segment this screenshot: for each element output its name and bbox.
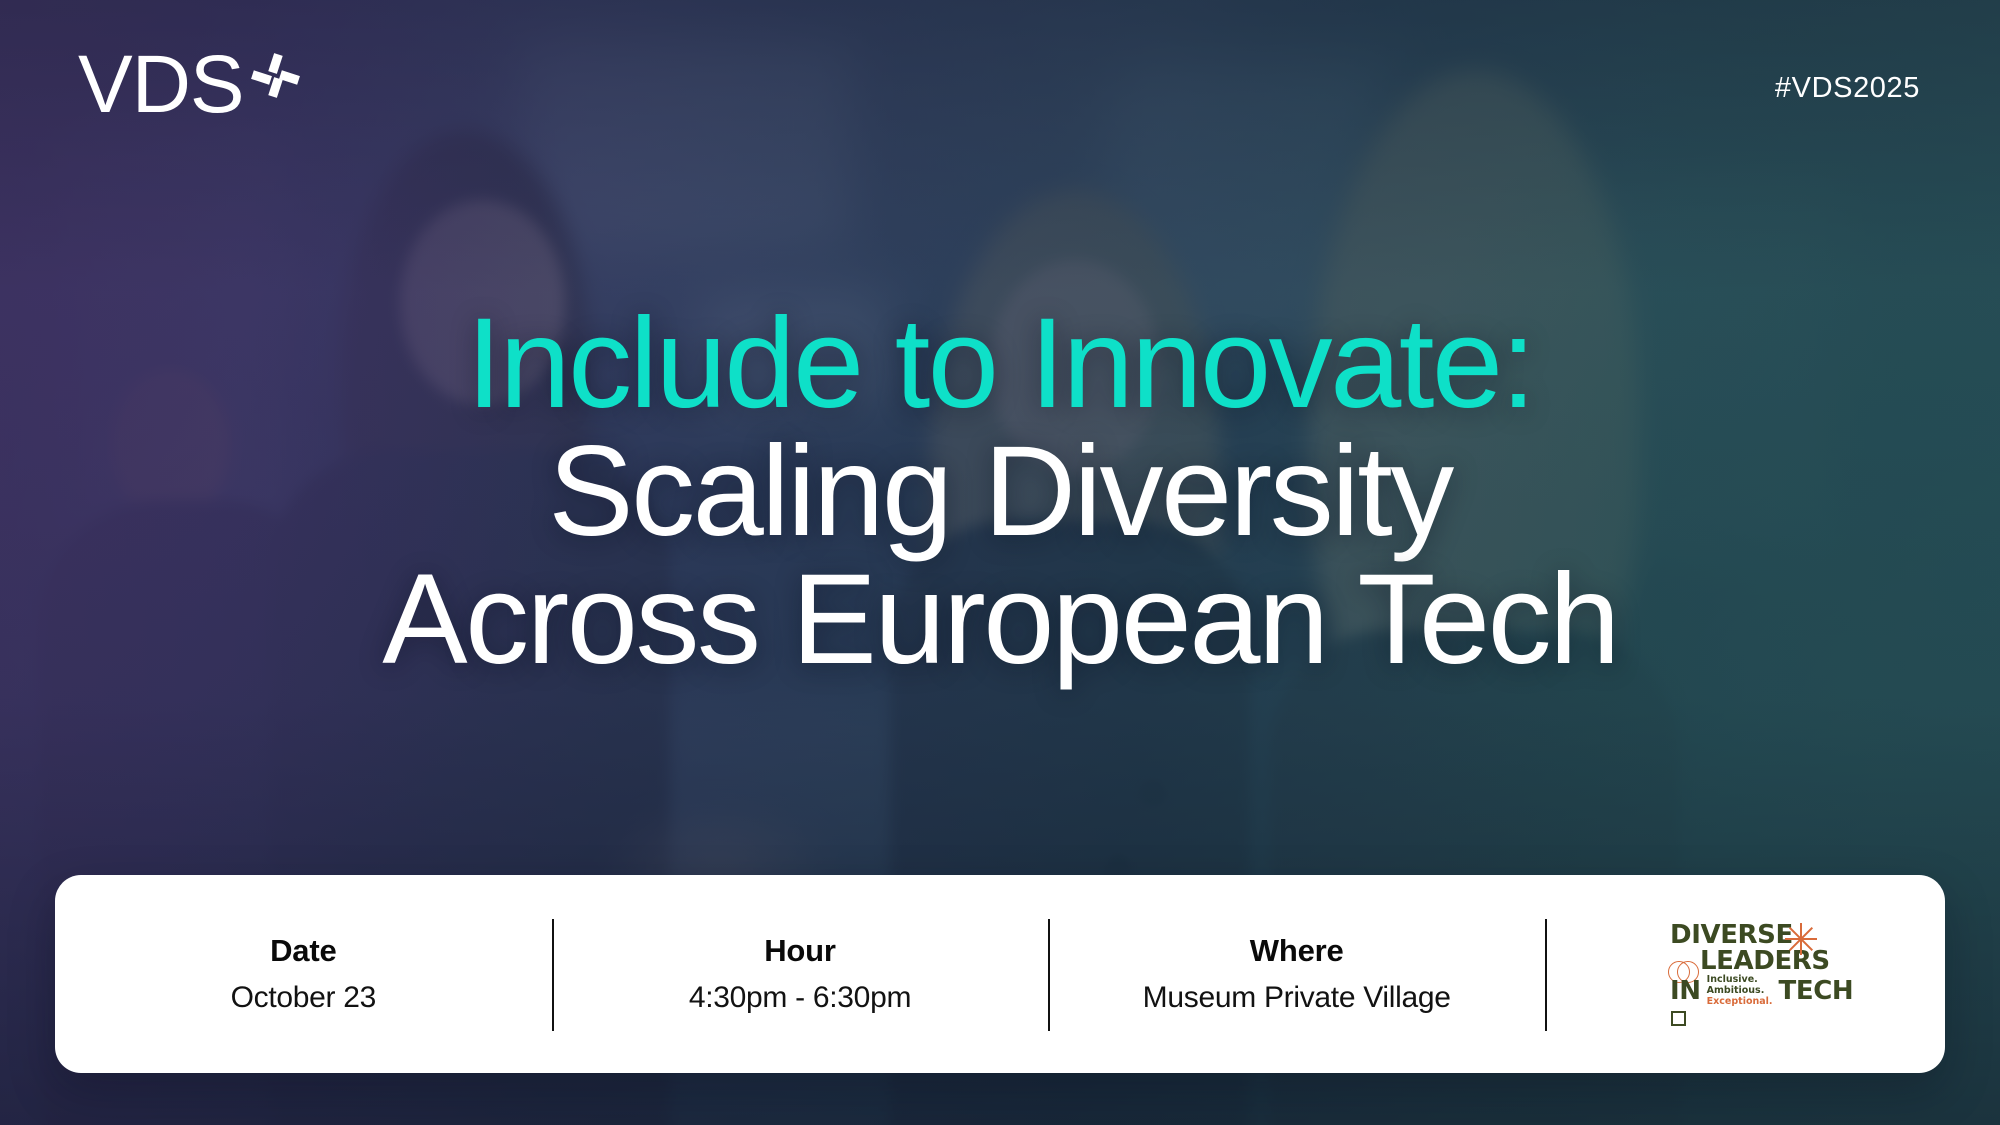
vds-logo[interactable]: VDS [78, 48, 302, 122]
info-column-hour: Hour 4:30pm - 6:30pm [552, 875, 1049, 1073]
asterisk-icon [1784, 922, 1818, 956]
plus-cross-mark-icon [250, 52, 302, 104]
headline-line-1: Include to Innovate: [0, 300, 2000, 428]
info-column-where: Where Museum Private Village [1048, 875, 1545, 1073]
event-info-card: Date October 23 Hour 4:30pm - 6:30pm Whe… [55, 875, 1945, 1073]
info-label-where: Where [1250, 933, 1344, 969]
info-value-where: Museum Private Village [1143, 981, 1451, 1015]
headline-line-3: Across European Tech [0, 556, 2000, 684]
event-hashtag: #VDS2025 [1775, 72, 1920, 105]
partner-logo-line-1: DIVERSE [1670, 923, 1793, 947]
event-poster: VDS #VDS2025 Include to Innovate: Scalin… [0, 0, 2000, 1125]
info-label-date: Date [270, 933, 336, 969]
square-icon [1671, 1011, 1686, 1026]
headline: Include to Innovate: Scaling Diversity A… [0, 300, 2000, 684]
tagline-word-exceptional: Exceptional. [1707, 996, 1773, 1007]
partner-logo-tagline: Inclusive. Ambitious. Exceptional. [1707, 974, 1773, 1007]
info-value-date: October 23 [231, 981, 376, 1015]
tagline-word-ambitious: Ambitious. [1707, 985, 1773, 996]
tagline-word-inclusive: Inclusive. [1707, 974, 1773, 985]
vds-logo-text: VDS [78, 48, 244, 122]
headline-line-2: Scaling Diversity [0, 428, 2000, 556]
info-value-hour: 4:30pm - 6:30pm [689, 981, 911, 1015]
partner-logo-diverse-leaders-in-tech[interactable]: DIVERSE LEADERS IN [1545, 875, 1945, 1073]
partner-logo-line-3-right: TECH [1779, 979, 1854, 1003]
info-column-date: Date October 23 [55, 875, 552, 1073]
partner-logo-line-3-left: IN [1670, 979, 1701, 1003]
info-label-hour: Hour [764, 933, 836, 969]
